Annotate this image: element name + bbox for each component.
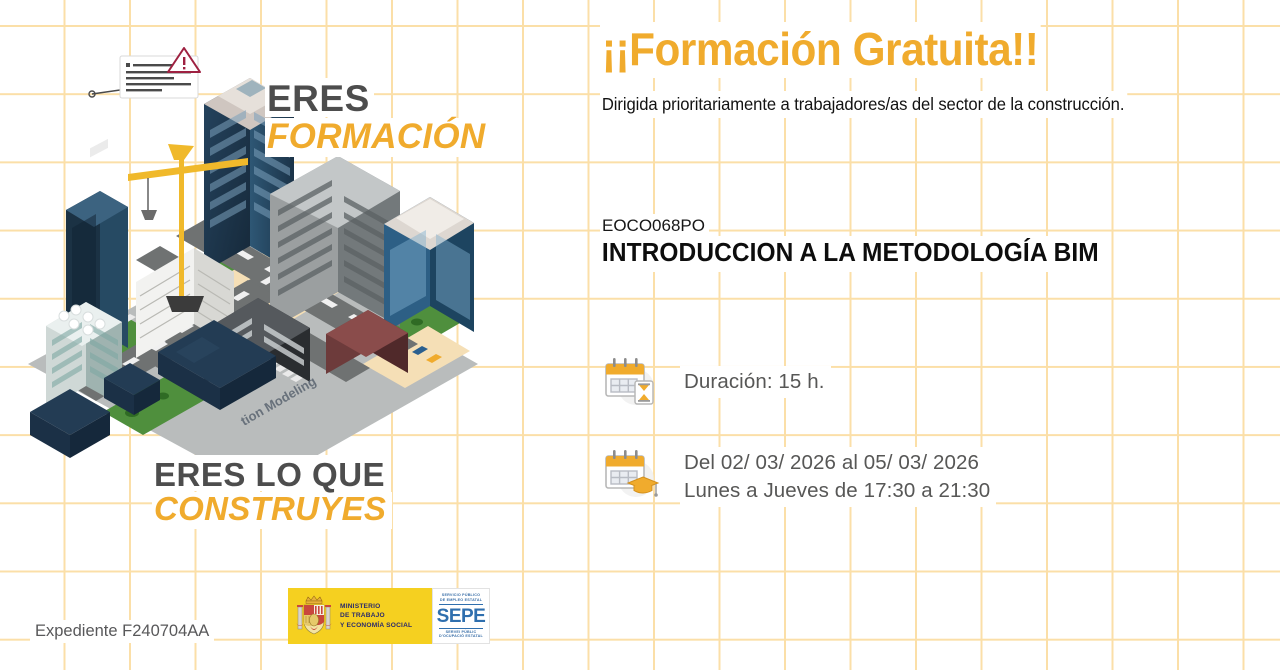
ministerio-de-trabajo-logo: MINISTERIO DE TRABAJO Y ECONOMÍA SOCIAL: [288, 588, 432, 644]
ministry-line1: MINISTERIO: [340, 602, 412, 612]
slogan-top: ERES FORMACIÓN: [265, 78, 495, 157]
calendar-hourglass-icon: [602, 355, 660, 409]
slogan-bottom: ERES LO QUE CONSTRUYES: [152, 455, 422, 529]
headline-free-training: ¡¡Formación Gratuita!!: [600, 22, 1040, 78]
sepe-top-text: SERVICIO PÚBLICO DE EMPLEO ESTATAL: [440, 593, 482, 603]
calendar-graduation-cap-icon: [602, 447, 660, 501]
sepe-divider-top: [439, 604, 483, 605]
slogan-top-line1: ERES: [265, 78, 374, 117]
subheadline-target-audience: Dirigida prioritariamente a trabajadores…: [600, 91, 1127, 118]
slogan-bottom-line1: ERES LO QUE: [152, 455, 390, 491]
ministry-logo-text: MINISTERIO DE TRABAJO Y ECONOMÍA SOCIAL: [340, 602, 412, 631]
ministry-line3: Y ECONOMÍA SOCIAL: [340, 621, 412, 631]
sepe-divider-bottom: [439, 628, 483, 629]
ministry-line2: DE TRABAJO: [340, 611, 412, 621]
slogan-bottom-line2: CONSTRUYES: [152, 492, 392, 529]
dates-schedule-line: Lunes a Jueves de 17:30 a 21:30: [684, 477, 990, 505]
duration-line: Duración: 15 h.: [684, 368, 825, 396]
slogan-top-line2: FORMACIÓN: [265, 118, 490, 157]
sepe-bottom-line2: D'OCUPACIÓ ESTATAL: [439, 634, 483, 639]
course-code: EOCO068PO: [600, 214, 709, 237]
info-row-duration: Duración: 15 h.: [602, 355, 831, 409]
course-title: INTRODUCCION A LA METODOLOGÍA BIM: [600, 236, 1103, 272]
spain-coat-of-arms-icon: [294, 593, 334, 639]
sepe-bottom-text: SERVEI PÚBLIC D'OCUPACIÓ ESTATAL: [439, 630, 483, 640]
info-text-duration: Duración: 15 h.: [680, 366, 831, 399]
footer-logos: MINISTERIO DE TRABAJO Y ECONOMÍA SOCIAL …: [288, 588, 490, 644]
sepe-logo: SERVICIO PÚBLICO DE EMPLEO ESTATAL SEPE …: [432, 588, 490, 644]
dates-range-line: Del 02/ 03/ 2026 al 05/ 03/ 2026: [684, 449, 990, 477]
right-panel: ¡¡Formación Gratuita!! Dirigida priorita…: [598, 0, 1280, 670]
info-text-dates: Del 02/ 03/ 2026 al 05/ 03/ 2026 Lunes a…: [680, 447, 996, 507]
info-row-dates: Del 02/ 03/ 2026 al 05/ 03/ 2026 Lunes a…: [602, 447, 996, 507]
sepe-wordmark: SEPE: [437, 607, 486, 626]
sepe-top-line1: SERVICIO PÚBLICO: [440, 593, 482, 598]
poster-canvas: tion Modeling ERES FORMACIÓN ERES LO QUE…: [0, 0, 1280, 670]
expediente-label: Expediente F240704AA: [30, 620, 214, 643]
sepe-top-line2: DE EMPLEO ESTATAL: [440, 598, 482, 603]
left-panel: tion Modeling ERES FORMACIÓN ERES LO QUE…: [0, 0, 600, 670]
